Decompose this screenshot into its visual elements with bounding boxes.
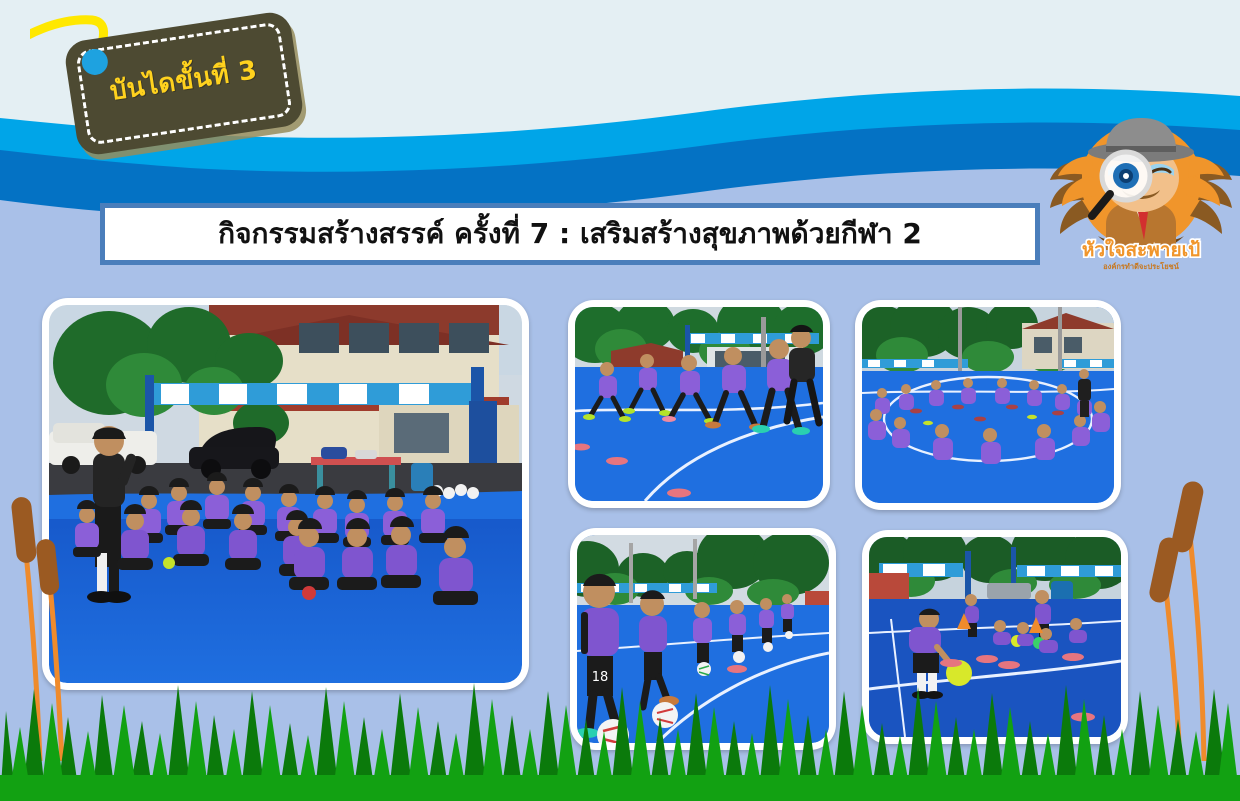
title-banner: กิจกรรมสร้างสรรค์ ครั้งที่ 7 : เสริมสร้า… (100, 203, 1040, 265)
step-tag: บันไดขั้นที่ 3 (30, 8, 300, 188)
grass-decoration (0, 671, 1240, 801)
photo-coach-briefing-seated-team[interactable] (42, 298, 529, 690)
logo-subtitle-text: องค์กรทำดีจะประโยชน์ (1103, 261, 1180, 271)
page-title: กิจกรรมสร้างสรรค์ ครั้งที่ 7 : เสริมสร้า… (218, 212, 922, 256)
photo-circle-seated-stretch[interactable] (855, 300, 1121, 510)
photo-warmup-lunges-drill[interactable] (568, 300, 830, 508)
detective-magnifier-icon: หัวใจสะพายเป้ องค์กรทำดีจะประโยชน์ (1048, 104, 1234, 284)
logo-name-text: หัวใจสะพายเป้ (1082, 238, 1200, 261)
slide-canvas: บันไดขั้นที่ 3 กิจกรรมสร้างสรรค์ ครั้งที… (0, 0, 1240, 801)
